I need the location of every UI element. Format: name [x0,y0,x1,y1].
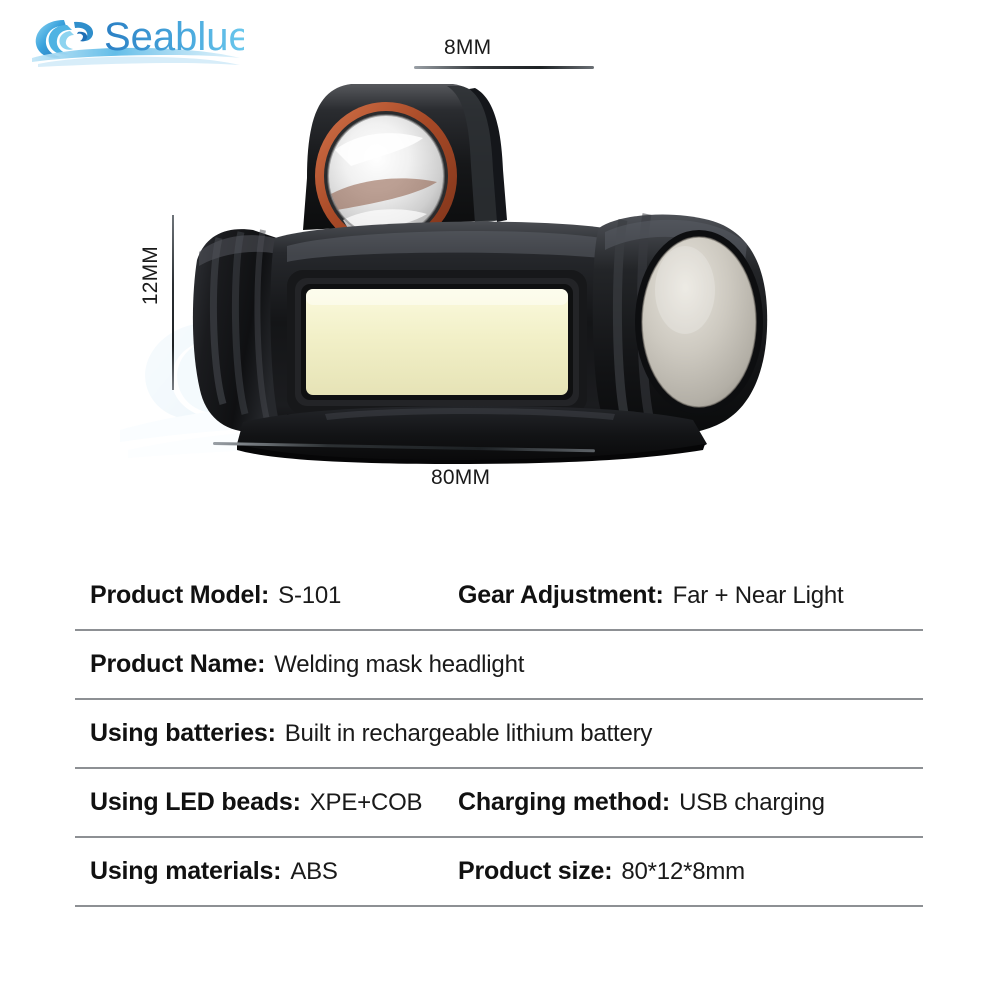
spec-value: Built in rechargeable lithium battery [276,720,652,748]
right-end-cap [593,214,767,435]
dimension-line-left [172,215,174,390]
spec-cell-product-name: Product Name: Welding mask headlight [75,650,524,679]
dimension-line-top [414,66,594,69]
spec-value: Far + Near Light [664,582,844,610]
spec-value: 80*12*8mm [612,858,745,886]
table-row: Using materials: ABS Product size: 80*12… [75,838,923,907]
table-row: Using LED beads: XPE+COB Charging method… [75,769,923,838]
product-detail-page: Seablue [0,0,1000,1000]
spec-cell-charging-method: Charging method: USB charging [458,788,825,817]
table-row: Product Model: S-101 Gear Adjustment: Fa… [75,562,923,631]
spec-value: XPE+COB [301,789,423,817]
spec-label: Product Model: [90,581,269,610]
spec-cell-using-materials: Using materials: ABS [75,857,458,886]
dimension-label-12mm: 12MM [139,246,163,305]
dimension-label-80mm: 80MM [431,466,490,490]
spec-cell-using-led-beads: Using LED beads: XPE+COB [75,788,458,817]
spec-label: Gear Adjustment: [458,581,664,610]
dimension-label-8mm: 8MM [444,36,491,60]
specification-table: Product Model: S-101 Gear Adjustment: Fa… [75,562,923,907]
spec-cell-using-batteries: Using batteries: Built in rechargeable l… [75,719,652,748]
product-photo: Seablue [0,0,1000,545]
spec-label: Product size: [458,857,612,886]
spec-value: USB charging [670,789,825,817]
spec-cell-product-model: Product Model: S-101 [75,581,458,610]
spec-value: Welding mask headlight [265,651,524,679]
table-row: Product Name: Welding mask headlight [75,631,923,700]
spec-cell-gear-adjustment: Gear Adjustment: Far + Near Light [458,581,844,610]
spec-label: Using LED beads: [90,788,301,817]
spec-label: Product Name: [90,650,265,679]
spec-label: Using batteries: [90,719,276,748]
headlight-product-image [175,70,835,470]
spec-value: S-101 [269,582,341,610]
table-row: Using batteries: Built in rechargeable l… [75,700,923,769]
spec-cell-product-size: Product size: 80*12*8mm [458,857,745,886]
spec-value: ABS [281,858,337,886]
base-clip-foot [237,406,707,464]
spec-label: Charging method: [458,788,670,817]
spec-label: Using materials: [90,857,281,886]
